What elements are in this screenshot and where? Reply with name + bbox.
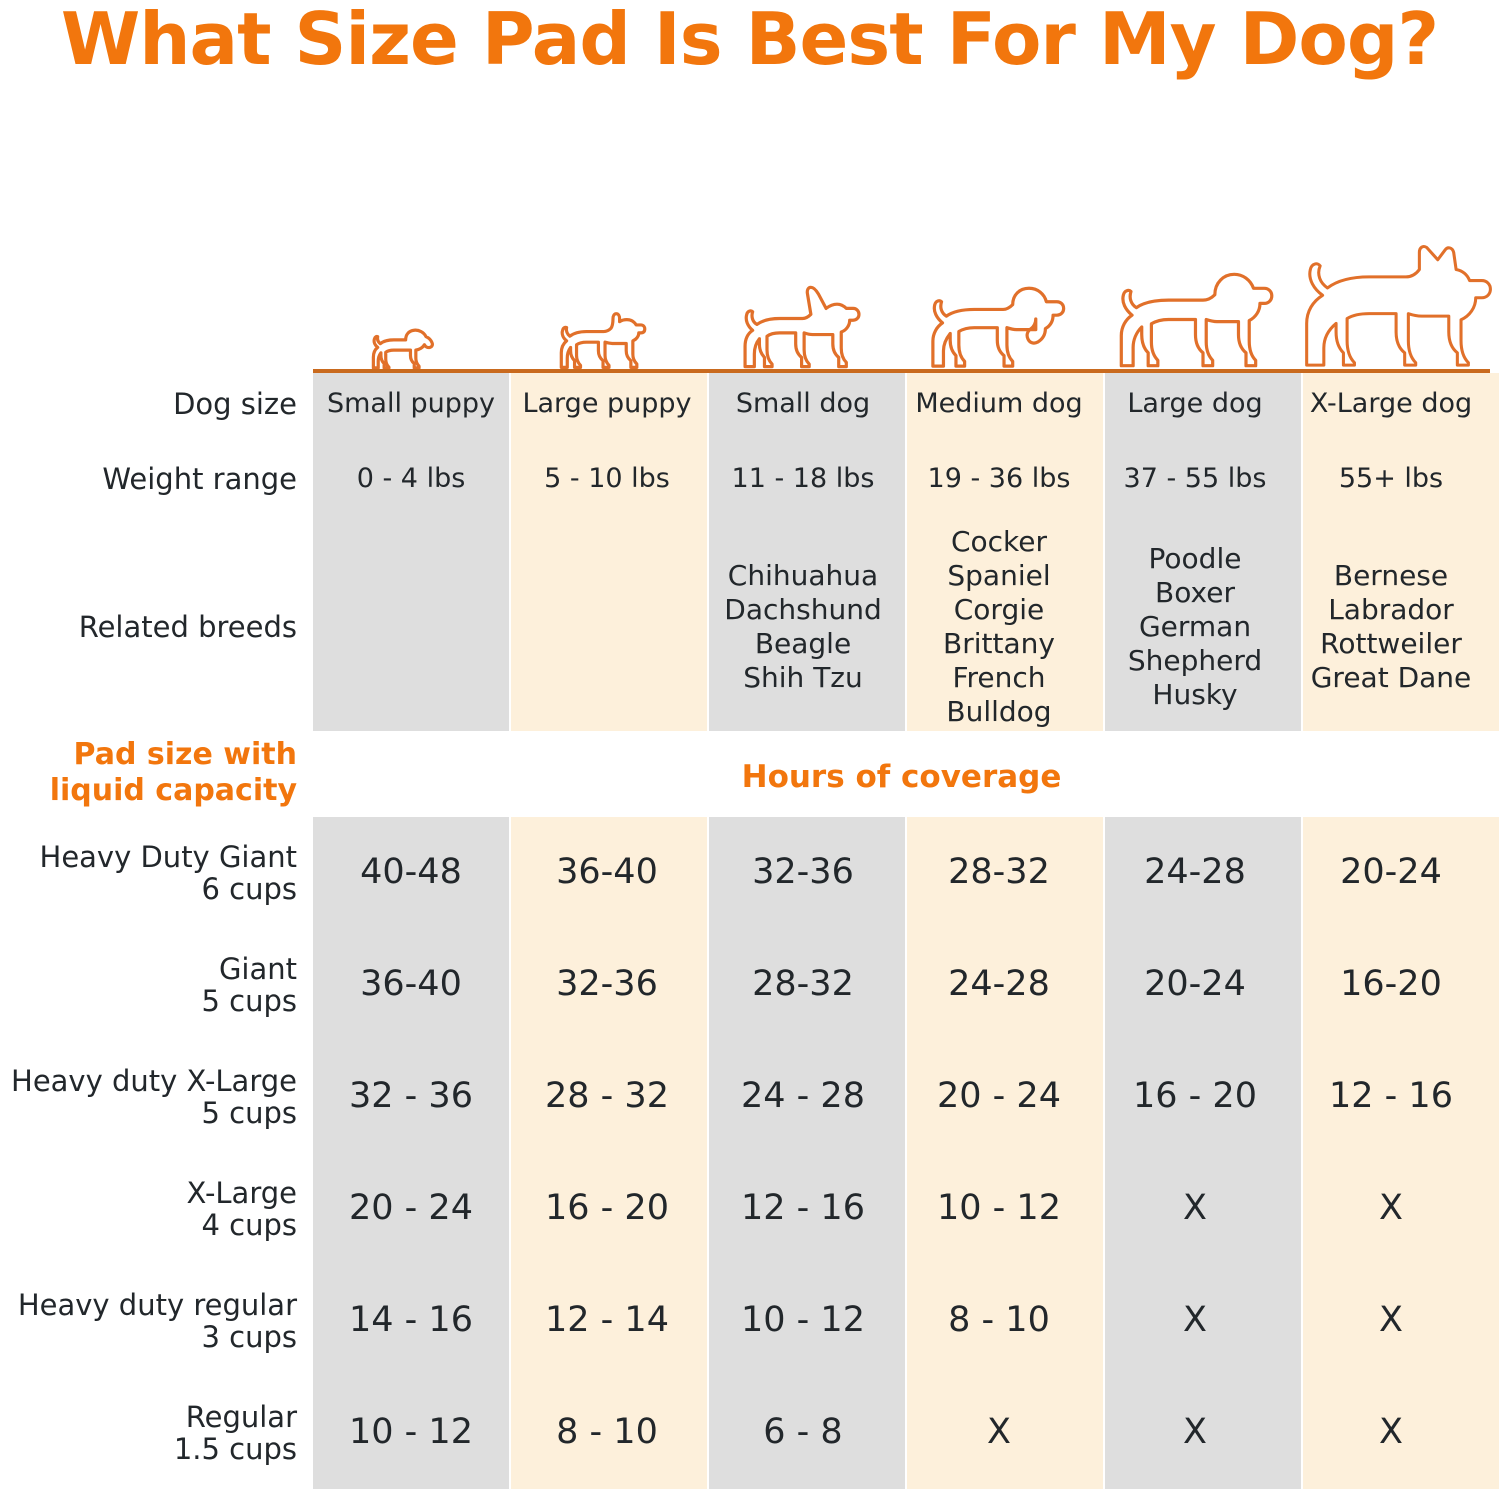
cell-breeds-5: BerneseLabradorRottweilerGreat Dane [1293, 559, 1489, 696]
table-row-weight-range: Weight range 0 - 4 lbs 5 - 10 lbs 11 - 1… [0, 435, 1499, 523]
cell-weight-4: 37 - 55 lbs [1097, 463, 1293, 495]
table-row-dog-size: Dog size Small puppy Large puppy Small d… [0, 373, 1499, 435]
coverage-cell: X [1097, 1412, 1293, 1453]
page-title: What Size Pad Is Best For My Dog? [0, 2, 1499, 78]
coverage-cell: 8 - 10 [901, 1300, 1097, 1341]
coverage-cell: 24-28 [1097, 852, 1293, 893]
breed-name: Poodle [1097, 542, 1293, 576]
cell-weight-5: 55+ lbs [1293, 463, 1489, 495]
breed-name: Boxer [1097, 576, 1293, 610]
cell-dog-size-3: Medium dog [901, 388, 1097, 420]
coverage-cell: 16-20 [1293, 964, 1489, 1005]
coverage-cell: 12 - 16 [1293, 1076, 1489, 1117]
table-row: Regular1.5 cups10 - 128 - 106 - 8XXX [0, 1377, 1499, 1489]
coverage-cell: 6 - 8 [705, 1412, 901, 1453]
cell-dog-size-5: X-Large dog [1293, 388, 1489, 420]
coverage-cell: 10 - 12 [313, 1412, 509, 1453]
small-dog-silhouette [709, 282, 905, 370]
coverage-cell: 14 - 16 [313, 1300, 509, 1341]
dog-silhouette-strip [313, 150, 1490, 370]
pad-size-name: Giant [0, 953, 297, 985]
coverage-cell: 20 - 24 [901, 1076, 1097, 1117]
breed-name: Husky [1097, 678, 1293, 712]
pad-size-capacity: 6 cups [0, 873, 297, 905]
coverage-cell: 10 - 12 [901, 1188, 1097, 1229]
coverage-cell: X [901, 1412, 1097, 1453]
coverage-cell: X [1097, 1188, 1293, 1229]
coverage-cell: 10 - 12 [705, 1300, 901, 1341]
pad-size-capacity: 4 cups [0, 1209, 297, 1241]
coverage-cell: X [1097, 1300, 1293, 1341]
cell-weight-0: 0 - 4 lbs [313, 463, 509, 495]
pad-size-name: Heavy duty X-Large [0, 1065, 297, 1097]
pad-size-header: Pad size with liquid capacity [0, 737, 313, 809]
cell-dog-size-0: Small puppy [313, 388, 509, 420]
large-puppy-silhouette [511, 301, 707, 370]
breed-name: German [1097, 610, 1293, 644]
table-row: Giant5 cups36-4032-3628-3224-2820-2416-2… [0, 929, 1499, 1041]
cell-dog-size-4: Large dog [1097, 388, 1293, 420]
coverage-cell: 36-40 [313, 964, 509, 1005]
coverage-cell: 20-24 [1097, 964, 1293, 1005]
size-chart-table: Dog size Small puppy Large puppy Small d… [0, 373, 1499, 1489]
breed-name: Great Dane [1293, 661, 1489, 695]
coverage-cell: X [1293, 1188, 1489, 1229]
pad-size-name: Heavy Duty Giant [0, 841, 297, 873]
coverage-cell: 16 - 20 [509, 1188, 705, 1229]
breed-name: Shepherd [1097, 644, 1293, 678]
row-label-pad-size: Giant5 cups [0, 953, 313, 1018]
pad-size-capacity: 5 cups [0, 985, 297, 1017]
coverage-data-rows: Heavy Duty Giant6 cups40-4836-4032-3628-… [0, 817, 1499, 1489]
breed-name: Dachshund [705, 593, 901, 627]
table-row: Heavy duty X-Large5 cups32 - 3628 - 3224… [0, 1041, 1499, 1153]
pad-size-capacity: 5 cups [0, 1097, 297, 1129]
table-row-related-breeds: Related breeds ChihuahuaDachshundBeagleS… [0, 523, 1499, 731]
breed-name: French Bulldog [901, 661, 1097, 729]
cell-dog-size-2: Small dog [705, 388, 901, 420]
pad-size-name: Regular [0, 1401, 297, 1433]
cell-weight-2: 11 - 18 lbs [705, 463, 901, 495]
breed-name: Chihuahua [705, 559, 901, 593]
coverage-cell: 28-32 [901, 852, 1097, 893]
breed-name: Shih Tzu [705, 661, 901, 695]
row-label-pad-size: Heavy duty regular3 cups [0, 1289, 313, 1354]
coverage-cell: 32-36 [509, 964, 705, 1005]
coverage-cell: 20-24 [1293, 852, 1489, 893]
row-label-pad-size: Regular1.5 cups [0, 1401, 313, 1466]
breed-name: Brittany [901, 627, 1097, 661]
cell-dog-size-1: Large puppy [509, 388, 705, 420]
large-dog-silhouette [1105, 258, 1301, 370]
hours-of-coverage-header: Hours of coverage [313, 759, 1490, 795]
cell-breeds-4: PoodleBoxerGermanShepherdHusky [1097, 542, 1293, 713]
coverage-cell: X [1293, 1300, 1489, 1341]
coverage-cell: 12 - 14 [509, 1300, 705, 1341]
small-puppy-silhouette [313, 314, 509, 370]
x-large-dog-silhouette [1303, 237, 1499, 370]
coverage-cell: 20 - 24 [313, 1188, 509, 1229]
coverage-cell: 28-32 [705, 964, 901, 1005]
coverage-cell: 12 - 16 [705, 1188, 901, 1229]
row-label-pad-size: Heavy Duty Giant6 cups [0, 841, 313, 906]
breed-name: Rottweiler [1293, 627, 1489, 661]
medium-dog-silhouette [907, 270, 1103, 370]
coverage-cell: 8 - 10 [509, 1412, 705, 1453]
row-label-related-breeds: Related breeds [0, 611, 313, 643]
coverage-cell: 32 - 36 [313, 1076, 509, 1117]
table-row: Heavy Duty Giant6 cups40-4836-4032-3628-… [0, 817, 1499, 929]
row-label-pad-size: Heavy duty X-Large5 cups [0, 1065, 313, 1130]
row-label-dog-size: Dog size [0, 388, 313, 420]
row-label-weight-range: Weight range [0, 463, 313, 495]
cell-weight-1: 5 - 10 lbs [509, 463, 705, 495]
cell-breeds-2: ChihuahuaDachshundBeagleShih Tzu [705, 559, 901, 696]
pad-size-capacity: 1.5 cups [0, 1433, 297, 1465]
table-row: X-Large4 cups20 - 2416 - 2012 - 1610 - 1… [0, 1153, 1499, 1265]
coverage-cell: X [1293, 1412, 1489, 1453]
coverage-cell: 36-40 [509, 852, 705, 893]
cell-breeds-3: Cocker SpanielCorgieBrittanyFrench Bulld… [901, 525, 1097, 730]
breed-name: Cocker Spaniel [901, 525, 1097, 593]
pad-size-name: Heavy duty regular [0, 1289, 297, 1321]
row-label-pad-size: X-Large4 cups [0, 1177, 313, 1242]
breed-name: Beagle [705, 627, 901, 661]
breed-name: Labrador [1293, 593, 1489, 627]
breed-name: Bernese [1293, 559, 1489, 593]
coverage-cell: 32-36 [705, 852, 901, 893]
coverage-cell: 16 - 20 [1097, 1076, 1293, 1117]
pad-size-header-line1: Pad size [74, 737, 213, 772]
pad-size-capacity: 3 cups [0, 1321, 297, 1353]
coverage-cell: 40-48 [313, 852, 509, 893]
coverage-cell: 24 - 28 [705, 1076, 901, 1117]
section-header-band: Pad size with liquid capacity Hours of c… [0, 731, 1499, 817]
table-row: Heavy duty regular3 cups14 - 1612 - 1410… [0, 1265, 1499, 1377]
breed-name: Corgie [901, 593, 1097, 627]
coverage-cell: 28 - 32 [509, 1076, 705, 1117]
cell-weight-3: 19 - 36 lbs [901, 463, 1097, 495]
pad-size-name: X-Large [0, 1177, 297, 1209]
coverage-cell: 24-28 [901, 964, 1097, 1005]
